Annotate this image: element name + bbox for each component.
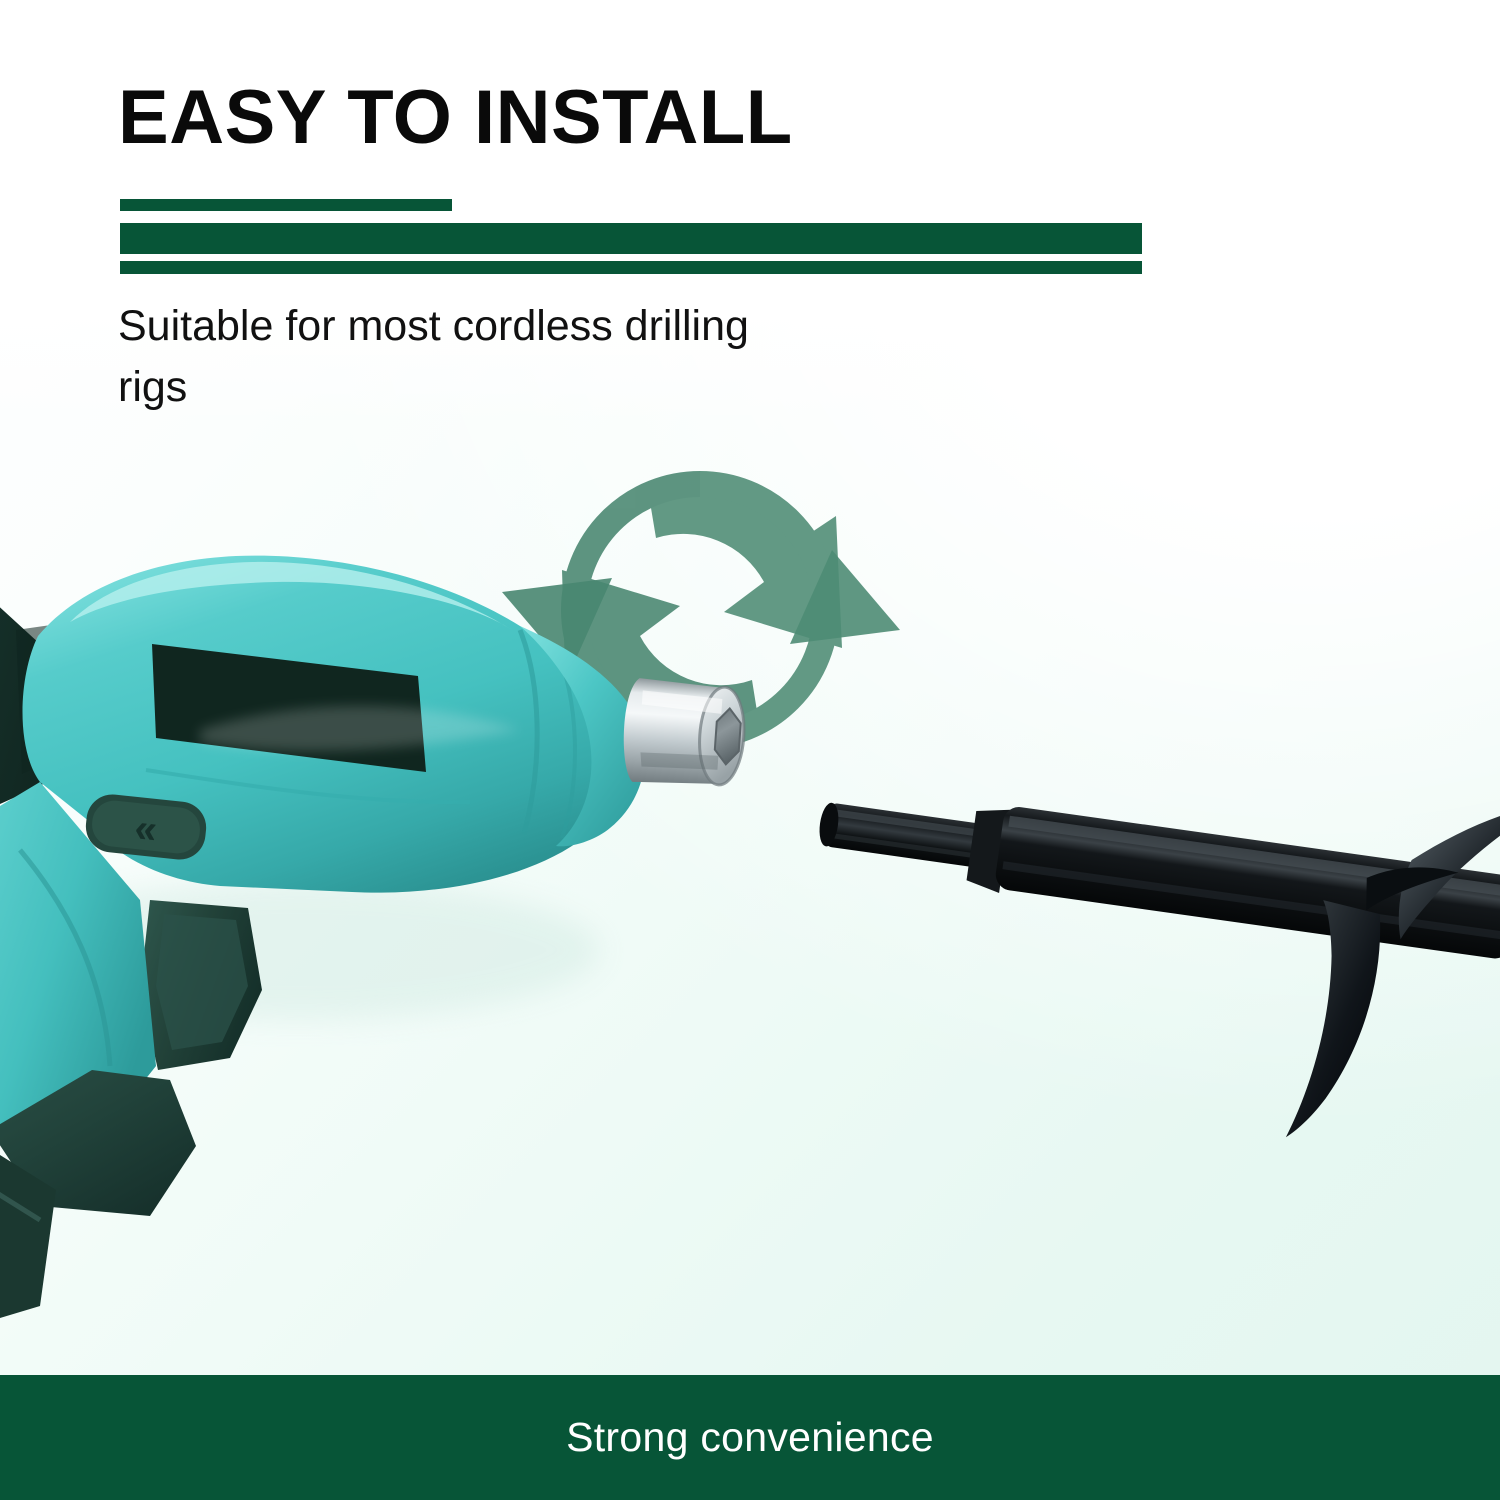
accent-rule-thin: [120, 261, 1142, 274]
page-title: EASY TO INSTALL: [118, 80, 793, 156]
auger-bit: [786, 705, 1500, 1167]
auger-flight-lower: [1286, 900, 1386, 1147]
accent-rule-short: [120, 199, 452, 211]
hex-shank: [817, 802, 992, 869]
page-subtitle: Suitable for most cordless drilling rigs: [118, 296, 818, 418]
accent-rule-thick: [120, 223, 1142, 254]
footer-banner: Strong convenience: [0, 1375, 1500, 1500]
drill-direction-button-glyph: «: [132, 806, 159, 852]
product-scene: «: [0, 430, 1500, 1375]
footer-caption: Strong convenience: [0, 1375, 1500, 1500]
product-feature-card: EASY TO INSTALL Suitable for most cordle…: [0, 0, 1500, 1500]
